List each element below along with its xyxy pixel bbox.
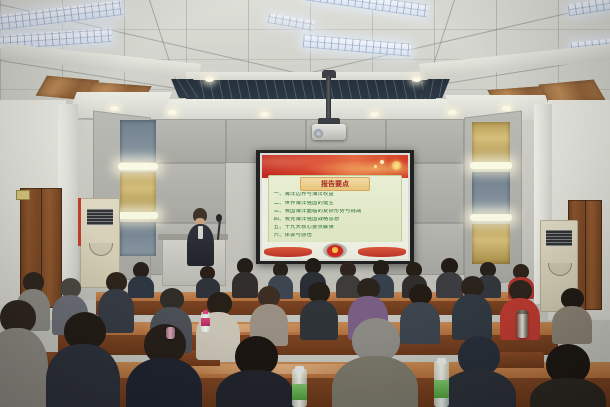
recessed-downlight <box>260 112 269 117</box>
bottle-cap <box>437 358 445 364</box>
niche-lamp <box>118 163 158 170</box>
slide-bullet-item: 四、我党海洋强国战略思想 <box>274 217 401 222</box>
ac-outlet <box>89 243 113 256</box>
audience-torso <box>452 294 492 340</box>
seated-audience-member <box>0 300 48 407</box>
recessed-downlight <box>110 106 119 111</box>
slide-banner-star-icon <box>374 165 377 168</box>
recessed-downlight <box>168 110 177 115</box>
door-sign <box>16 190 30 200</box>
ac-outlet <box>548 263 572 276</box>
ac-grille <box>87 209 113 225</box>
recessed-downlight <box>502 106 511 111</box>
niche-lamp <box>470 162 512 169</box>
audience-torso <box>332 356 418 407</box>
illuminated-wall-niche <box>472 122 510 162</box>
seated-audience-member <box>216 336 294 407</box>
audience-torso <box>552 306 592 344</box>
dark-ceiling-vent-panel <box>186 80 436 101</box>
illuminated-wall-niche <box>120 172 156 212</box>
slide-ribbon-decoration <box>358 247 406 256</box>
ac-grille <box>546 230 572 246</box>
seated-audience-member <box>46 312 120 407</box>
seated-audience-member <box>126 324 202 407</box>
wall-panel <box>150 119 226 163</box>
presenter-at-lectern <box>186 208 216 266</box>
audience-torso <box>126 358 202 407</box>
audience-torso <box>440 370 516 407</box>
audience-torso <box>46 344 120 407</box>
recessed-downlight <box>448 110 457 115</box>
slide-bullet-item: 一、海洋边界与海洋权益 <box>274 192 401 197</box>
seated-audience-member <box>552 288 592 340</box>
illuminated-wall-niche <box>472 224 510 264</box>
seated-audience-member <box>250 286 288 342</box>
soffit-underside <box>150 99 460 121</box>
projector-mount-pole <box>326 76 331 120</box>
seated-audience-member <box>452 276 492 336</box>
bottle-label <box>434 380 449 398</box>
vacuum-flask <box>166 327 175 339</box>
audience-torso <box>530 378 606 407</box>
slide-bullet-item: 六、体会与感悟 <box>274 233 401 238</box>
niche-lamp <box>118 212 158 219</box>
audience-torso <box>0 328 48 407</box>
slide-bullet-item: 五、十九大核心要点解读 <box>274 225 401 230</box>
illuminated-wall-niche <box>120 222 156 256</box>
illuminated-wall-niche <box>472 172 510 214</box>
seated-audience-member <box>530 344 606 407</box>
water-bottle <box>434 358 449 407</box>
flask-lid <box>517 310 528 314</box>
recessed-downlight <box>370 112 379 117</box>
slide-bullet-item: 二、世界海洋强国的诞生 <box>274 201 401 206</box>
slide-banner-sun-icon <box>392 161 401 170</box>
illuminated-wall-niche <box>120 120 156 162</box>
gooseneck-microphone-head <box>216 214 222 222</box>
vacuum-flask <box>517 310 528 338</box>
seated-audience-member <box>332 318 418 407</box>
conference-hall-photo: 报告要点 一、海洋边界与海洋权益 二、世界海洋强国的诞生 三、我国海洋面临的复杂… <box>0 0 610 407</box>
bottle-label <box>201 318 210 326</box>
slide-ribbon-decoration <box>264 247 312 256</box>
slide-title: 报告要点 <box>300 177 370 190</box>
slide-banner-star-icon <box>380 160 384 164</box>
water-bottle <box>292 366 307 407</box>
slide-bullet-item: 三、我国海洋面临的复杂形势与挑战 <box>274 209 401 214</box>
slide-footer <box>262 242 408 259</box>
seated-audience-member <box>440 336 516 407</box>
projector-lens <box>314 129 323 138</box>
bottle-label <box>292 384 307 400</box>
audience-torso <box>216 370 294 407</box>
recessed-downlight <box>205 77 214 82</box>
presenter-shirt <box>198 226 203 239</box>
presentation-slide: 报告要点 一、海洋边界与海洋权益 二、世界海洋强国的诞生 三、我国海洋面临的复杂… <box>262 155 408 259</box>
slide-bullet-list: 一、海洋边界与海洋权益 二、世界海洋强国的诞生 三、我国海洋面临的复杂形势与挑战… <box>274 192 401 238</box>
ac-cable <box>78 198 81 246</box>
bottle-cap <box>295 366 303 372</box>
recessed-downlight <box>412 77 421 82</box>
niche-lamp <box>470 214 512 221</box>
bottle-cap <box>203 310 208 314</box>
water-bottle <box>201 310 210 332</box>
